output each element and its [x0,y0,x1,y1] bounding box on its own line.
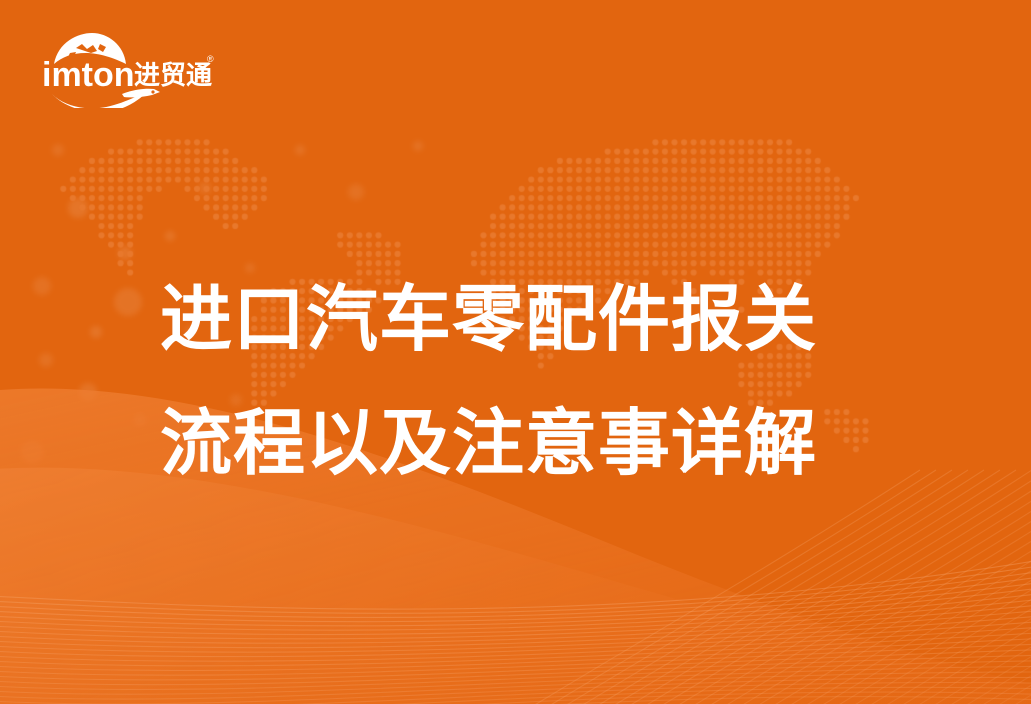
svg-text:imton: imton [42,56,135,94]
trademark-symbol: ® [207,54,214,64]
logo-wordmark-chinese: 进贸通 [134,60,212,90]
headline-block: 进口汽车零配件报关 流程以及注意事详解 [160,258,890,506]
brand-logo[interactable]: imton 进贸通 ® [40,26,220,108]
fan-line-diagonal [1016,470,1031,704]
logo-wordmark-latin: imton [42,56,135,94]
svg-text:进贸通: 进贸通 [134,60,212,90]
headline-line-1: 进口汽车零配件报关 [160,258,890,382]
headline-line-2: 流程以及注意事详解 [160,382,890,506]
promotional-banner: imton 进贸通 ® 进口汽车零配件报关 流程以及注意事详解 [0,0,1031,704]
